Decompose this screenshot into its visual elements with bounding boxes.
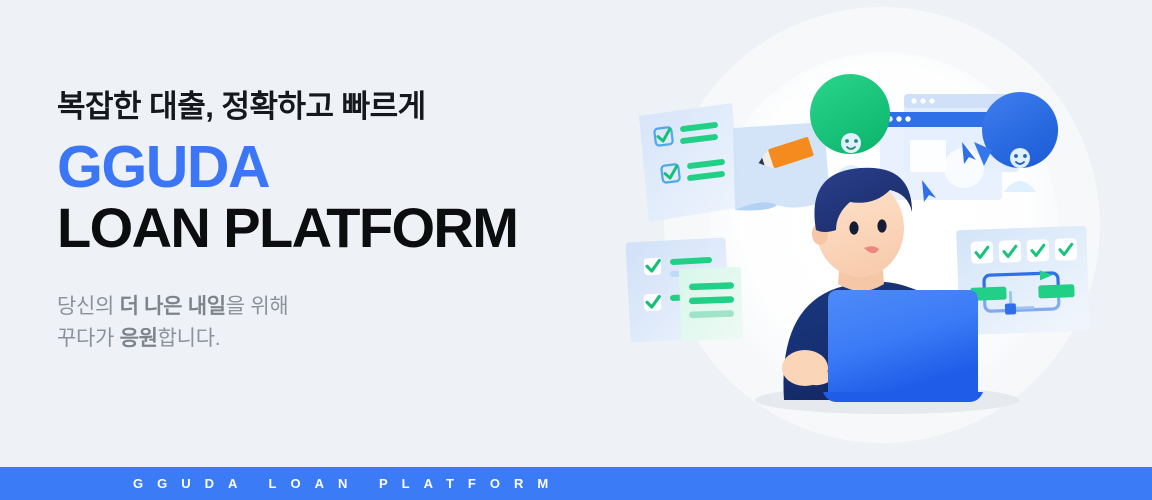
bottom-ticker-bar: GGUDA LOAN PLATFORM	[0, 467, 1152, 500]
brand-name: GGUDA	[57, 137, 617, 197]
page-title: LOAN PLATFORM	[57, 199, 617, 258]
subcopy-2-post: 합니다.	[158, 327, 221, 350]
ticker-text: GGUDA LOAN PLATFORM	[0, 476, 562, 491]
checklist-document-top-left	[639, 103, 742, 222]
hero-banner: 복잡한 대출, 정확하고 빠르게 GGUDA LOAN PLATFORM 당신의…	[0, 0, 1152, 500]
subcopy-line-2: 꾸다가 응원합니다.	[57, 323, 617, 356]
hero-eyebrow: 복잡한 대출, 정확하고 빠르게	[57, 88, 617, 127]
hero-subcopy: 당신의 더 나은 내일을 위해 꾸다가 응원합니다.	[57, 291, 617, 356]
hero-copy: 복잡한 대출, 정확하고 빠르게 GGUDA LOAN PLATFORM 당신의…	[57, 88, 617, 356]
laptop	[823, 290, 983, 402]
subcopy-line-1: 당신의 더 나은 내일을 위해	[57, 291, 617, 324]
loan-platform-illustration	[592, 0, 1152, 467]
subcopy-1-pre: 당신의	[57, 295, 120, 318]
subcopy-1-post: 을 위해	[226, 295, 289, 318]
note-card-green	[679, 267, 743, 341]
subcopy-2-pre: 꾸다가	[57, 327, 120, 350]
subcopy-2-strong: 응원	[120, 327, 158, 350]
subcopy-1-strong: 더 나은 내일	[120, 295, 226, 318]
pencil-document	[733, 122, 830, 210]
